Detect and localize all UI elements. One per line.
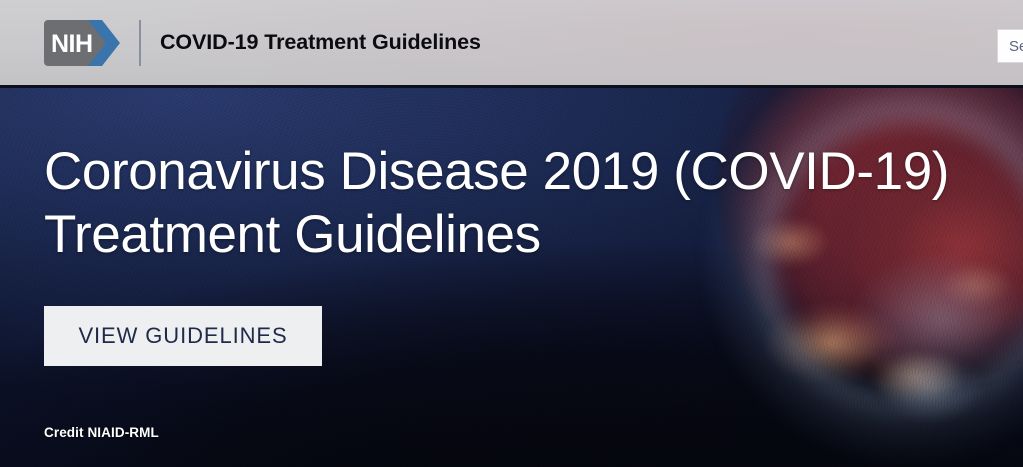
page-root: NIH COVID-19 Treatment Guidelines Corona… — [0, 0, 1023, 467]
search-box[interactable] — [997, 29, 1023, 63]
hero-banner: Coronavirus Disease 2019 (COVID-19) Trea… — [0, 88, 1023, 467]
image-credit: Credit NIAID-RML — [44, 425, 159, 440]
nih-logo[interactable]: NIH — [44, 20, 122, 66]
view-guidelines-button[interactable]: VIEW GUIDELINES — [44, 306, 322, 366]
site-header: NIH COVID-19 Treatment Guidelines — [0, 0, 1023, 88]
search-input[interactable] — [998, 38, 1023, 55]
header-divider — [139, 20, 141, 66]
hero-title: Coronavirus Disease 2019 (COVID-19) Trea… — [44, 140, 949, 266]
header-inner: NIH COVID-19 Treatment Guidelines — [0, 0, 481, 85]
site-title: COVID-19 Treatment Guidelines — [160, 32, 481, 54]
svg-text:NIH: NIH — [51, 30, 93, 58]
hero-content: Coronavirus Disease 2019 (COVID-19) Trea… — [44, 88, 984, 467]
